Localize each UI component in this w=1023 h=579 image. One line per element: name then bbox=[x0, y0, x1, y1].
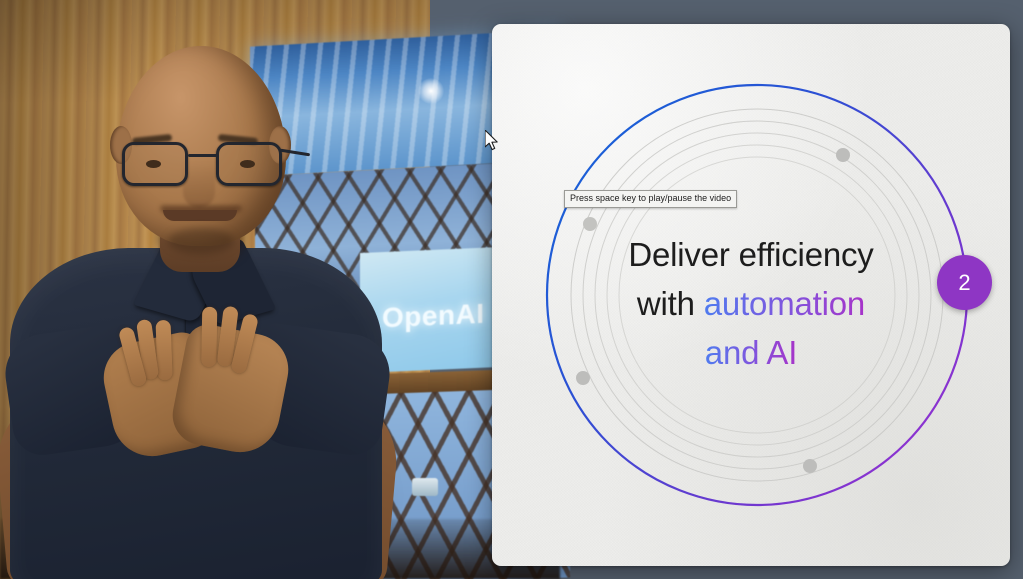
slide-title-line-2-accent: automation bbox=[704, 285, 865, 322]
orbit-dot-upper-left bbox=[583, 217, 597, 231]
slide-title-line-2: with automation bbox=[532, 279, 970, 328]
orbit-dot-bottom-right bbox=[803, 459, 817, 473]
slide-title-line-1: Deliver efficiency bbox=[532, 230, 970, 279]
glasses-temple bbox=[280, 149, 310, 157]
speaker-glasses bbox=[120, 142, 286, 188]
speaker-figure bbox=[0, 0, 470, 579]
video-playback-tooltip: Press space key to play/pause the video bbox=[564, 190, 737, 208]
speaker-mouth bbox=[163, 210, 237, 221]
finger bbox=[201, 307, 217, 367]
glasses-bridge bbox=[188, 154, 218, 157]
slide-title-line-3-accent: and AI bbox=[705, 334, 797, 371]
glasses-lens-right bbox=[216, 142, 282, 186]
glasses-lens-left bbox=[122, 142, 188, 186]
orbit-dot-top-right bbox=[836, 148, 850, 162]
mouse-cursor-icon bbox=[485, 130, 501, 154]
slide-title-line-2-plain: with bbox=[637, 285, 704, 322]
slide-title: Deliver efficiency with automation and A… bbox=[532, 230, 970, 377]
slide-step-badge[interactable]: 2 bbox=[937, 255, 992, 310]
speaker-chin-shadow bbox=[168, 228, 234, 254]
presentation-slide[interactable]: Deliver efficiency with automation and A… bbox=[492, 24, 1010, 566]
slide-step-number: 2 bbox=[958, 270, 970, 296]
slide-title-line-3: and AI bbox=[532, 328, 970, 377]
